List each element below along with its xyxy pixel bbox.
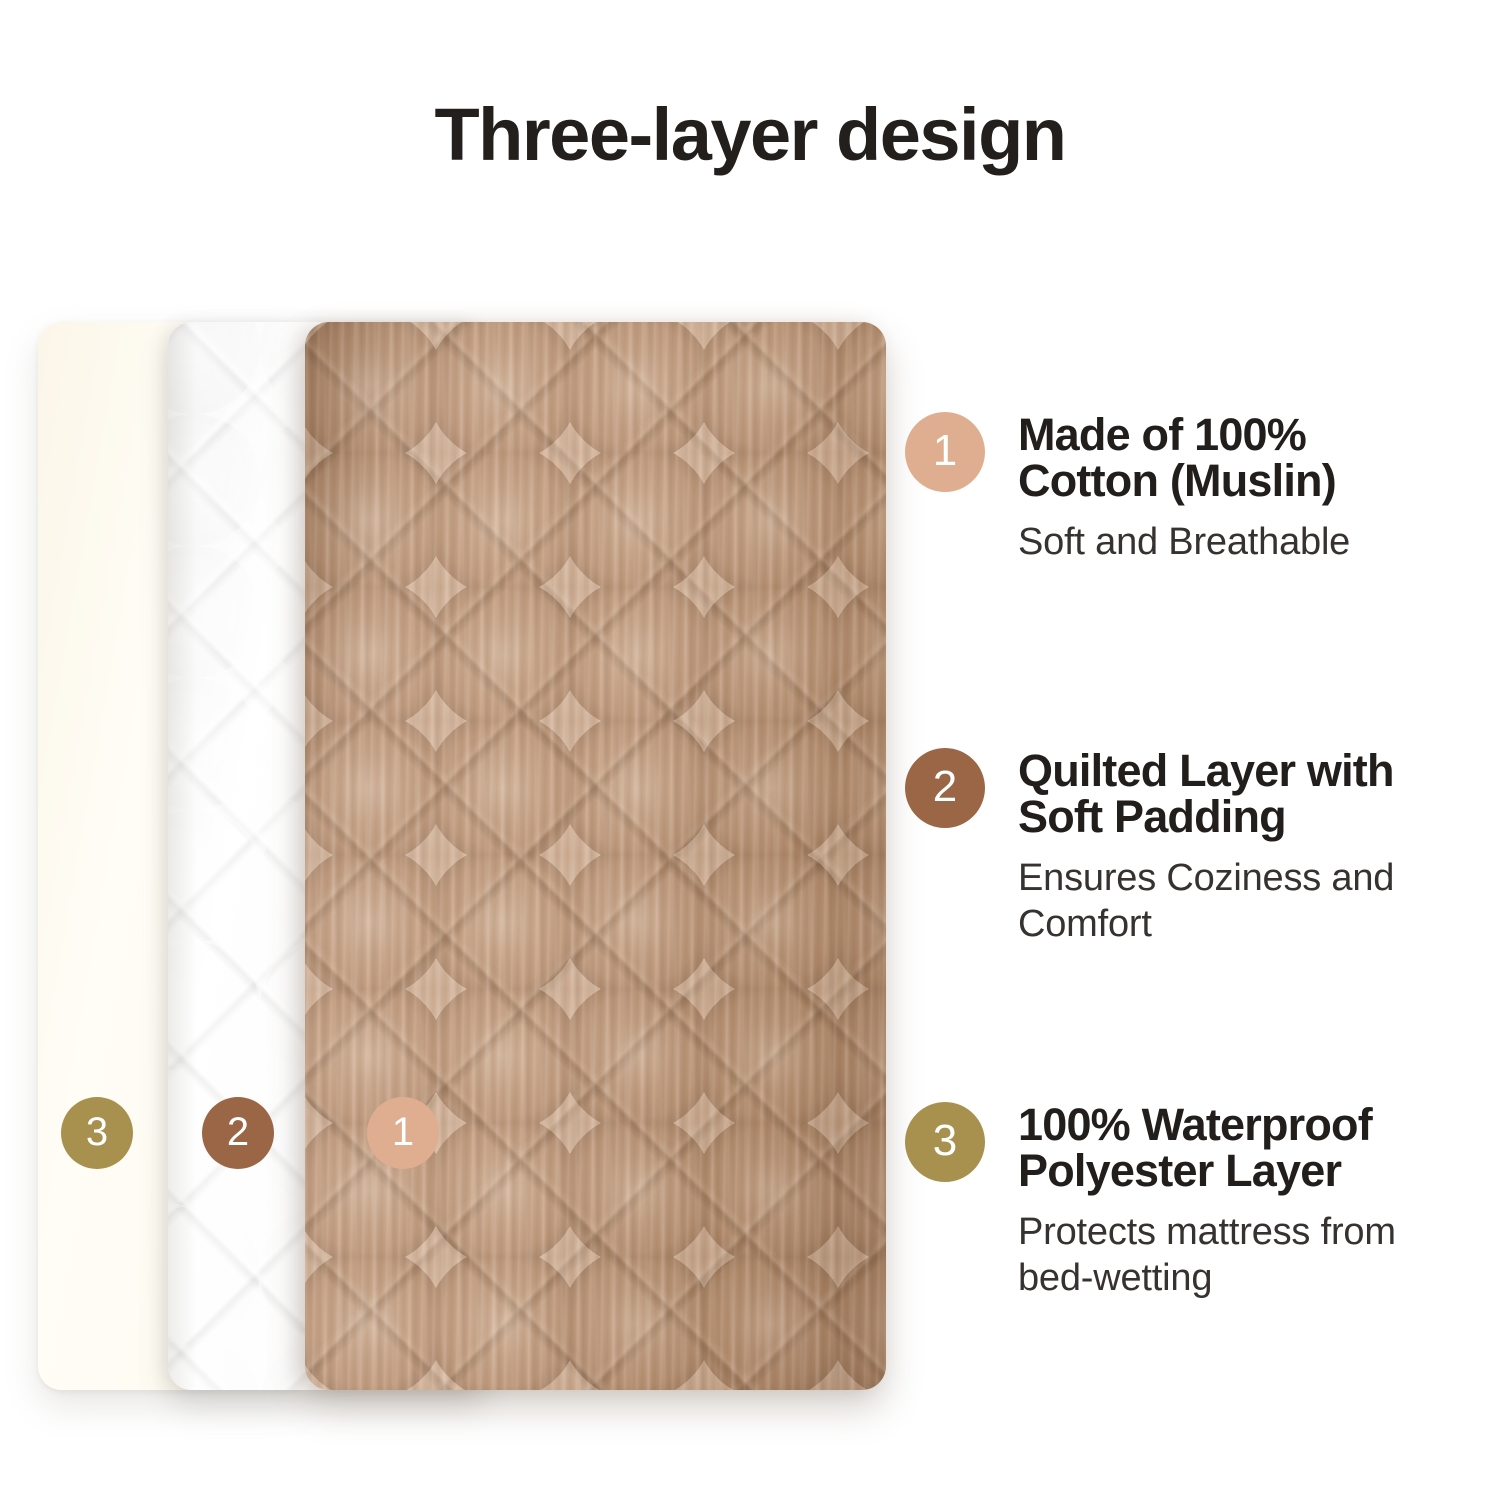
feature-item-3: 3 100% Waterproof Polyester Layer Protec… [900,1102,1500,1301]
product-stack-illustration: 3 2 1 [0,300,940,1420]
stack-layer-chip-2: 2 [202,1097,274,1169]
stack-layer-chip-1: 1 [367,1097,439,1169]
page-title: Three-layer design [0,96,1500,174]
feature-text-block: 100% Waterproof Polyester Layer Protects… [1018,1102,1500,1301]
feature-subtitle-2: Ensures Coziness and Comfort [1018,855,1500,948]
feature-text-block: Quilted Layer with Soft Padding Ensures … [1018,748,1500,947]
feature-badge-3: 3 [905,1102,985,1182]
feature-title-3: 100% Waterproof Polyester Layer [1018,1102,1500,1195]
feature-title-2: Quilted Layer with Soft Padding [1018,748,1500,841]
fabric-sheen-overlay [305,322,886,1390]
feature-text-block: Made of 100% Cotton (Muslin) Soft and Br… [1018,412,1500,565]
feature-item-2: 2 Quilted Layer with Soft Padding Ensure… [900,748,1500,947]
feature-title-1: Made of 100% Cotton (Muslin) [1018,412,1500,505]
product-layer-1-cotton-muslin-top [305,322,886,1390]
stack-layer-chip-3: 3 [61,1097,133,1169]
feature-subtitle-3: Protects mattress from bed-wetting [1018,1209,1500,1302]
feature-item-1: 1 Made of 100% Cotton (Muslin) Soft and … [900,412,1500,565]
feature-badge-2: 2 [905,748,985,828]
feature-badge-1: 1 [905,412,985,492]
feature-subtitle-1: Soft and Breathable [1018,519,1500,565]
